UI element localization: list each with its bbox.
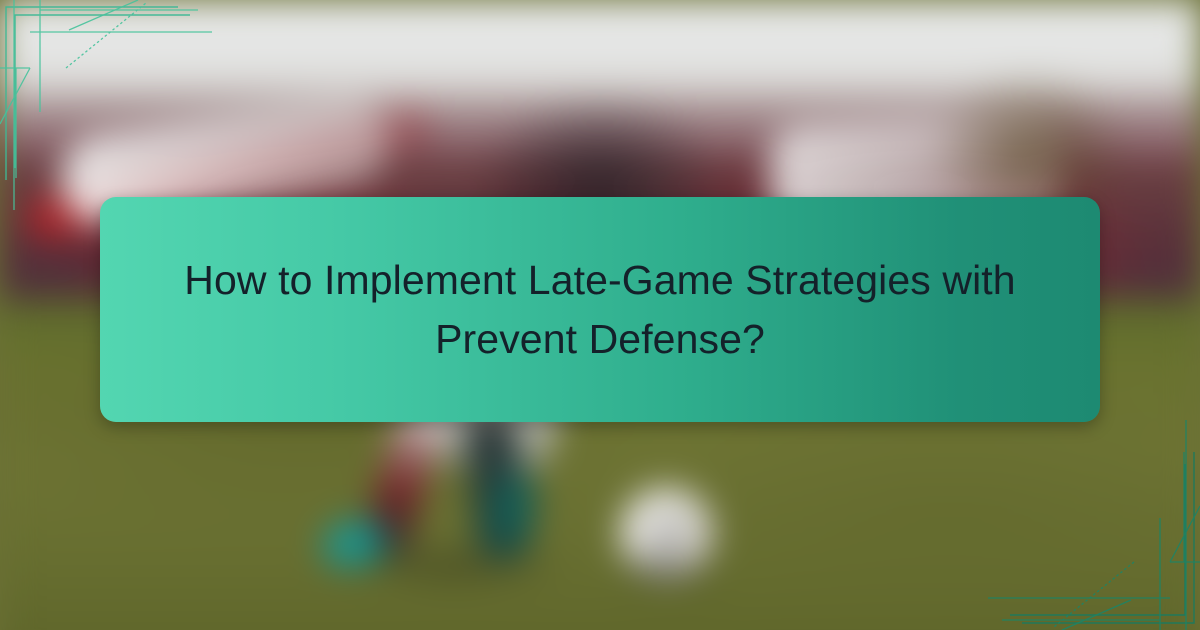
page-title: How to Implement Late-Game Strategies wi… (140, 251, 1060, 367)
title-card: How to Implement Late-Game Strategies wi… (100, 197, 1100, 422)
title-card-content: How to Implement Late-Game Strategies wi… (140, 251, 1060, 367)
ball-panel-lower (628, 546, 696, 580)
poster-canvas: How to Implement Late-Game Strategies wi… (0, 0, 1200, 630)
ball-panel-upper (650, 514, 684, 544)
